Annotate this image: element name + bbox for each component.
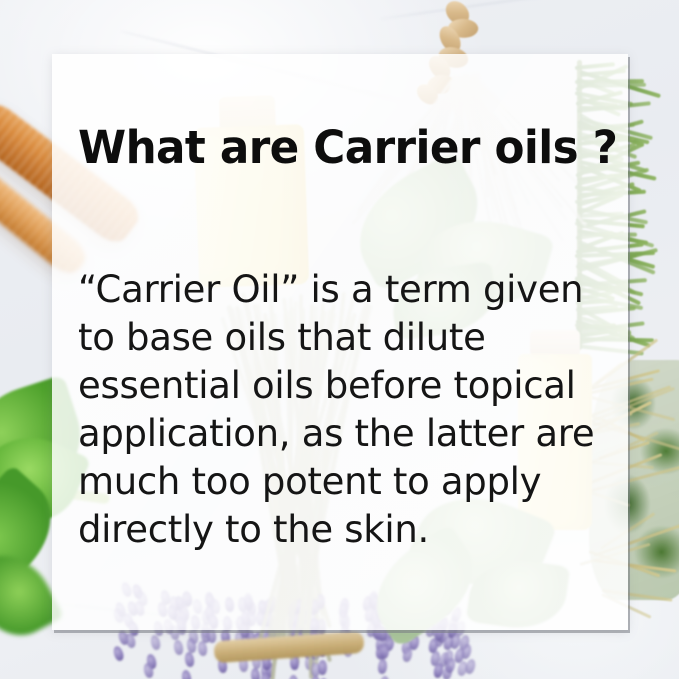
lavender-bud — [181, 669, 192, 679]
lavender-bud — [379, 643, 390, 659]
body-line: much too potent to apply — [78, 458, 608, 506]
infographic-canvas: What are Carrier oils ? “Carrier Oil” is… — [0, 0, 679, 679]
lavender-bud — [184, 652, 195, 668]
body-line: essential oils before topical — [78, 362, 608, 410]
lavender-bud — [289, 675, 298, 679]
page-title: What are Carrier oils ? — [78, 124, 602, 171]
body-line: directly to the skin. — [78, 506, 608, 554]
lavender-bud — [379, 675, 390, 679]
content-panel: What are Carrier oils ? “Carrier Oil” is… — [52, 54, 628, 630]
body-line: application, as the latter are — [78, 410, 608, 458]
body-paragraph: “Carrier Oil” is a term givento base oil… — [78, 266, 608, 555]
lavender-bud — [378, 659, 389, 675]
lavender-bud — [250, 668, 260, 679]
body-line: “Carrier Oil” is a term given — [78, 266, 608, 314]
body-line: to base oils that dilute — [78, 314, 608, 362]
lavender-bud — [173, 639, 184, 655]
lavender-bud — [197, 641, 208, 657]
